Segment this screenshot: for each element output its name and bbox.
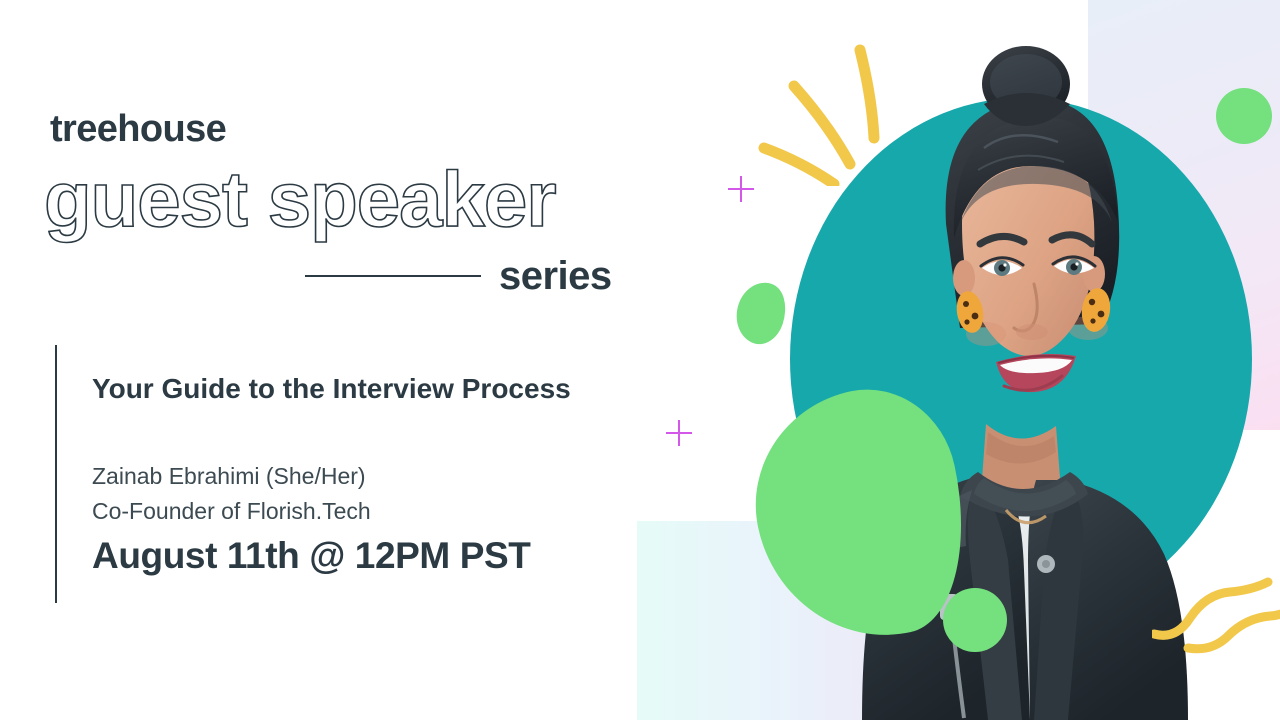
speaker-role: Co-Founder of Florish.Tech bbox=[92, 496, 371, 527]
plus-mark-left bbox=[666, 420, 692, 446]
green-blob-small bbox=[729, 276, 794, 350]
green-dot-bottom bbox=[943, 588, 1007, 652]
series-row: series bbox=[305, 252, 635, 300]
speaker-name: Zainab Ebrahimi (She/Her) bbox=[92, 461, 366, 492]
talk-title: Your Guide to the Interview Process bbox=[92, 370, 572, 409]
promo-slide: treehouse guest speaker series Your Guid… bbox=[0, 0, 1280, 720]
event-datetime: August 11th @ 12PM PST bbox=[92, 536, 530, 577]
yellow-fan-strokes bbox=[752, 36, 902, 186]
vertical-rule bbox=[55, 345, 57, 603]
yellow-wavy-lines bbox=[1152, 576, 1280, 686]
series-label: series bbox=[499, 256, 612, 296]
treehouse-wordmark: treehouse bbox=[50, 110, 226, 148]
series-divider bbox=[305, 275, 481, 277]
plus-mark-top bbox=[728, 176, 754, 202]
headline-guest-speaker: guest speaker bbox=[44, 160, 556, 238]
